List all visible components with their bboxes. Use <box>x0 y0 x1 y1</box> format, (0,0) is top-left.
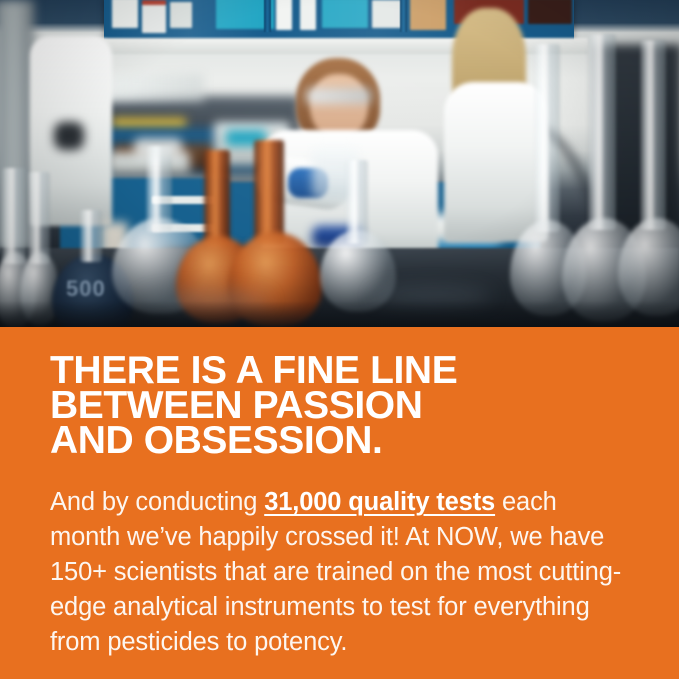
lab-photo: 500 <box>0 0 679 327</box>
shelf-box <box>170 2 192 28</box>
shelf-box-red <box>142 0 166 33</box>
headline-line-1: THERE IS A FINE LINE <box>50 353 650 388</box>
shelf-carton <box>410 0 446 30</box>
base-cabinet-handle-1 <box>152 196 214 204</box>
shelf-box-dark-2 <box>528 0 572 24</box>
scientist-a-beaker <box>312 148 358 200</box>
shelf-bottle-teal-2 <box>322 0 368 28</box>
headline: THERE IS A FINE LINE BETWEEN PASSION AND… <box>50 353 650 458</box>
equipment-rack-right-body <box>596 44 679 240</box>
scientist-c-hand <box>54 122 84 150</box>
quality-tests-emphasis: 31,000 quality tests <box>264 488 495 516</box>
instrument-light-body <box>108 152 190 174</box>
photo-bottom-fade <box>0 301 679 327</box>
cabinet-divider-2 <box>400 0 407 32</box>
instrument-right-teal <box>226 130 266 146</box>
wall-column-left <box>0 0 34 250</box>
shelf-bottle-white <box>276 0 292 30</box>
orange-text-panel: THERE IS A FINE LINE BETWEEN PASSION AND… <box>0 327 679 679</box>
shelf-bottle <box>112 0 138 28</box>
scientist-b-lab-coat <box>444 82 548 242</box>
body-copy: And by conducting 31,000 quality tests e… <box>50 485 625 660</box>
base-cabinet-handle-2 <box>152 224 214 232</box>
cabinet-divider-1 <box>264 0 271 32</box>
instrument-test-tube-rack <box>96 74 204 102</box>
headline-line-3: AND OBSESSION. <box>50 423 650 458</box>
scientist-a-safety-glasses <box>306 88 372 104</box>
shelf-bottle-white-2 <box>300 0 316 30</box>
body-copy-lead: And by conducting <box>50 488 264 516</box>
shelf-bottle-teal <box>216 0 274 29</box>
marketing-ad-card: 500 <box>0 0 679 679</box>
shelf-jar <box>372 0 402 28</box>
beaker-blue-liquid <box>312 226 362 248</box>
headline-line-2: BETWEEN PASSION <box>50 388 650 423</box>
